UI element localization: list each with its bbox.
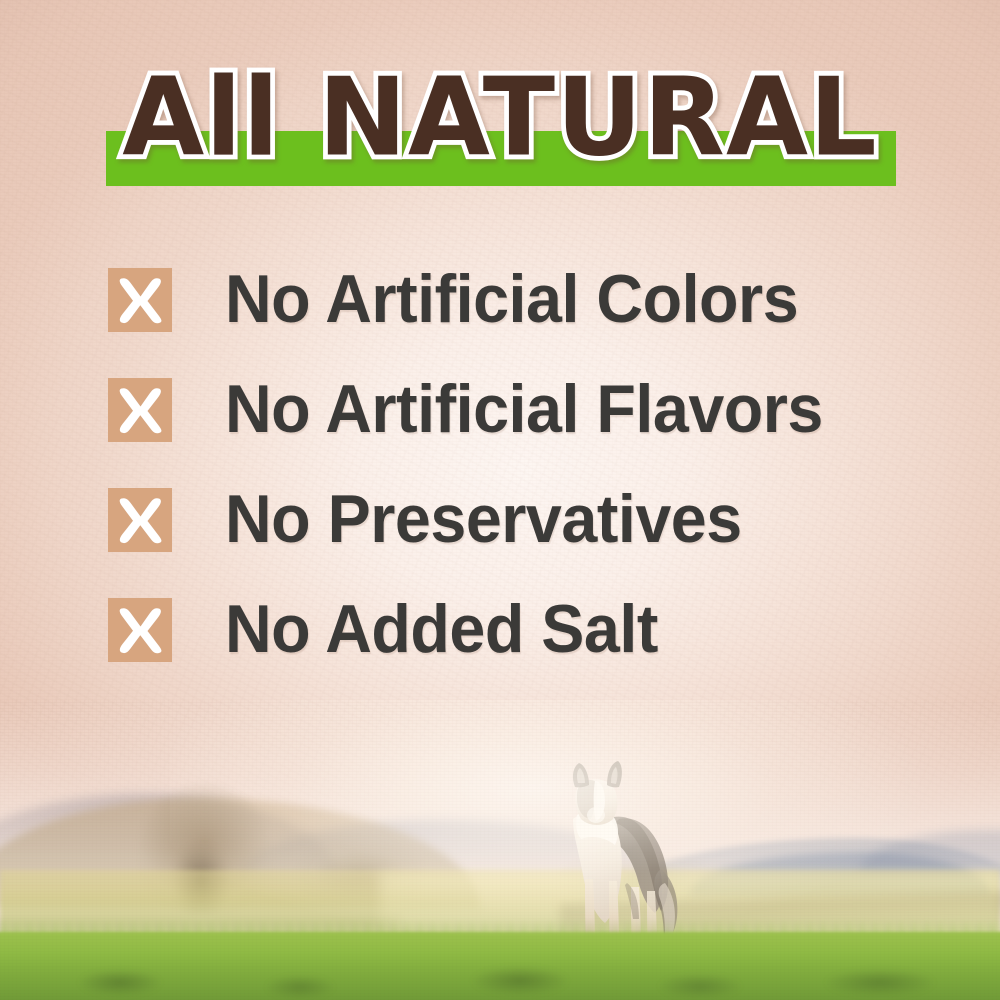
x-mark-icon xyxy=(108,598,172,662)
page-title: All NATURAL xyxy=(0,58,1000,179)
meadow-photograph xyxy=(0,700,1000,1000)
list-item: No Added Salt xyxy=(108,598,968,662)
list-item-label: No Artificial Colors xyxy=(225,264,798,334)
list-item: No Preservatives xyxy=(108,488,968,598)
all-natural-product-claims-poster: All NATURAL No Artificial Colors No Arti… xyxy=(0,0,1000,1000)
list-item-label: No Artificial Flavors xyxy=(225,374,823,444)
x-mark-icon xyxy=(108,378,172,442)
grass-clumps xyxy=(0,954,1000,1000)
list-item: No Artificial Flavors xyxy=(108,378,968,488)
list-item-label: No Added Salt xyxy=(225,594,658,664)
x-mark-icon xyxy=(108,488,172,552)
x-mark-icon xyxy=(108,268,172,332)
list-item: No Artificial Colors xyxy=(108,268,968,378)
list-item-label: No Preservatives xyxy=(225,484,742,554)
claims-list: No Artificial Colors No Artificial Flavo… xyxy=(108,268,968,662)
headline-block: All NATURAL xyxy=(0,62,1000,192)
